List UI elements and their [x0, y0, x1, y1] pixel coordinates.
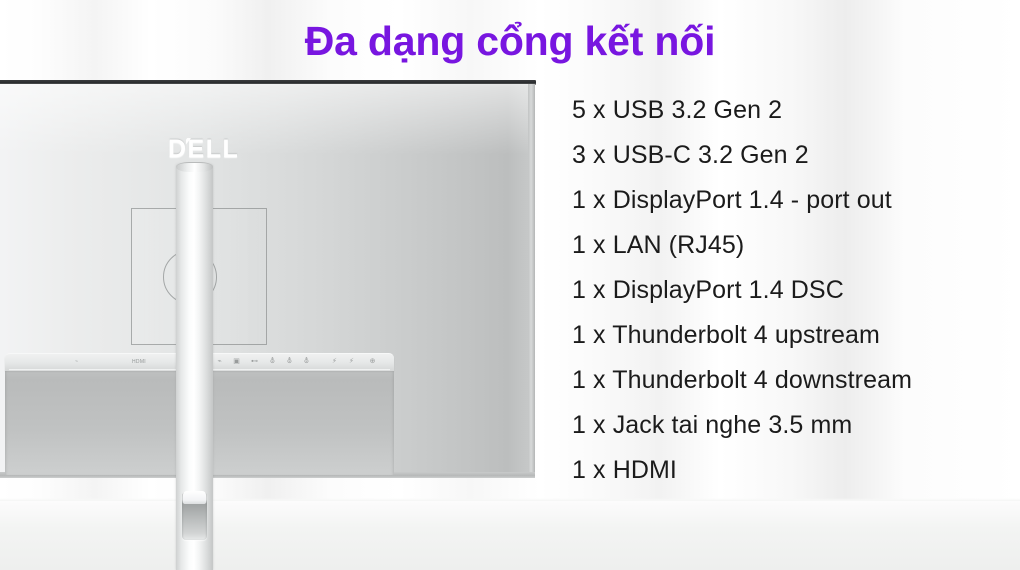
- dell-logo: DELL: [168, 137, 239, 162]
- displayport-icon: ▣: [232, 357, 241, 367]
- thunderbolt-icon-1: ⚡: [330, 357, 339, 367]
- desk-surface: [0, 501, 1020, 570]
- port-label-hdmi: HDMI: [132, 357, 146, 368]
- usb-icon-1: ⛢: [268, 357, 277, 367]
- monitor-right-edge: [528, 84, 535, 477]
- list-item: 1 x DisplayPort 1.4 - port out: [572, 178, 1018, 223]
- list-item: 1 x Thunderbolt 4 upstream: [572, 313, 1018, 358]
- list-item: 1 x Jack tai nghe 3.5 mm: [572, 403, 1018, 448]
- port-label-power: ~: [75, 357, 78, 368]
- list-item: 1 x Thunderbolt 4 downstream: [572, 358, 1018, 403]
- usb-icon-2: ⛢: [285, 357, 294, 367]
- list-item: 1 x LAN (RJ45): [572, 223, 1018, 268]
- spec-list: 5 x USB 3.2 Gen 2 3 x USB-C 3.2 Gen 2 1 …: [572, 88, 1018, 493]
- cable-management-slot-cap: [183, 491, 206, 504]
- list-item: 3 x USB-C 3.2 Gen 2: [572, 133, 1018, 178]
- list-item: 1 x DisplayPort 1.4 DSC: [572, 268, 1018, 313]
- audio-jack-icon: ⌁: [215, 357, 224, 367]
- list-item: 5 x USB 3.2 Gen 2: [572, 88, 1018, 133]
- page-title: Đa dạng cổng kết nối: [0, 18, 1020, 64]
- usb-icon-3: ⛢: [302, 357, 311, 367]
- lan-rj45-icon: ⊷: [250, 357, 259, 367]
- promo-banner: DELL ~ HDMI ⌁ ▣ ⊷ ⛢ ⛢ ⛢ ⚡ ⚡ ⊕ Đa dạng cổ…: [0, 0, 1020, 570]
- usb-c-icon: ⊕: [368, 357, 377, 367]
- thunderbolt-icon-2: ⚡: [347, 357, 356, 367]
- list-item: 1 x HDMI: [572, 448, 1018, 493]
- monitor-stand-column-top: [176, 162, 213, 172]
